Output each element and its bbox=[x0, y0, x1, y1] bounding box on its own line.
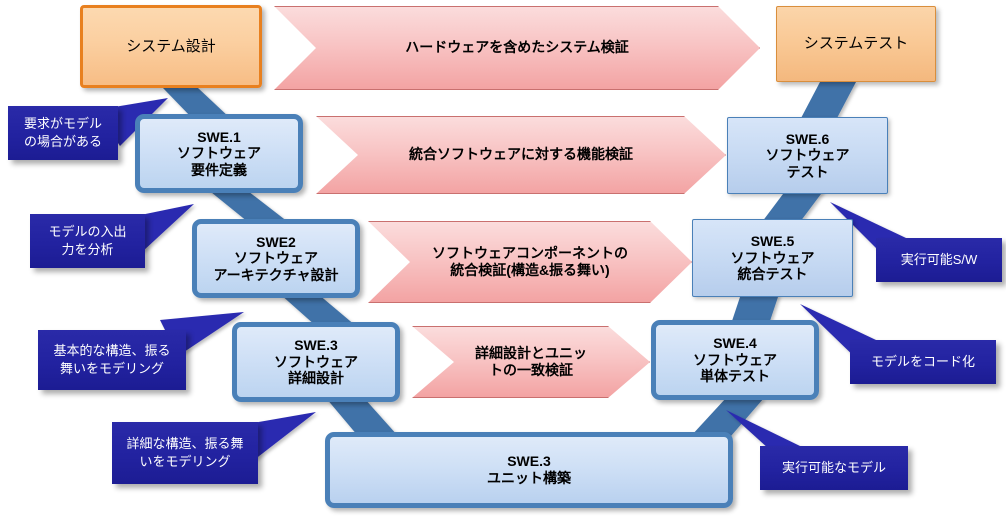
callout-model-to-code[interactable]: モデルをコード化 bbox=[850, 340, 996, 384]
connector-swe3unit-swe4 bbox=[691, 398, 764, 436]
phase-box-swe1[interactable]: SWE.1 ソフトウェア 要件定義 bbox=[135, 114, 303, 193]
callout-executable-software[interactable]: 実行可能S/W bbox=[876, 238, 1002, 282]
connector-swe3design-swe3unit bbox=[326, 398, 398, 436]
verification-arrow-software-functional[interactable]: 統合ソフトウェアに対する機能検証 bbox=[316, 116, 726, 194]
callout-model-detailed-structure-behavior[interactable]: 詳細な構造、振る舞 いをモデリング bbox=[112, 422, 258, 484]
callout-model-basic-structure-behavior[interactable]: 基本的な構造、振る 舞いをモデリング bbox=[38, 330, 186, 390]
callout-analyze-model-io[interactable]: モデルの入出 力を分析 bbox=[30, 214, 145, 268]
verification-arrow-component-integration[interactable]: ソフトウェアコンポーネントの 統合検証(構造&振る舞い) bbox=[368, 221, 692, 303]
phase-box-swe2[interactable]: SWE2 ソフトウェア アーキテクチャ設計 bbox=[192, 219, 360, 298]
verification-arrow-unit-consistency[interactable]: 詳細設計とユニッ トの一致検証 bbox=[412, 326, 650, 398]
phase-box-swe6[interactable]: SWE.6 ソフトウェア テスト bbox=[727, 117, 888, 194]
phase-box-swe4[interactable]: SWE.4 ソフトウェア 単体テスト bbox=[651, 320, 819, 400]
phase-box-swe3-detailed-design[interactable]: SWE.3 ソフトウェア 詳細設計 bbox=[232, 322, 400, 402]
vmodel-diagram-canvas: システム設計 システムテスト SWE.1 ソフトウェア 要件定義 SWE2 ソフ… bbox=[0, 0, 1006, 516]
connector-swe1-swe2 bbox=[206, 188, 288, 222]
phase-box-swe5[interactable]: SWE.5 ソフトウェア 統合テスト bbox=[692, 219, 853, 297]
phase-box-swe3-unit-construction[interactable]: SWE.3 ユニット構築 bbox=[325, 432, 733, 508]
callout-executable-model[interactable]: 実行可能なモデル bbox=[760, 446, 908, 490]
verification-arrow-system[interactable]: ハードウェアを含めたシステム検証 bbox=[274, 6, 760, 90]
callout-requirements-may-be-model[interactable]: 要求がモデル の場合がある bbox=[8, 106, 118, 160]
phase-box-system-design[interactable]: システム設計 bbox=[80, 5, 262, 88]
phase-box-system-test[interactable]: システムテスト bbox=[776, 6, 936, 82]
connector-swe6-systest bbox=[800, 82, 856, 120]
connector-swe5-swe6 bbox=[762, 190, 824, 222]
